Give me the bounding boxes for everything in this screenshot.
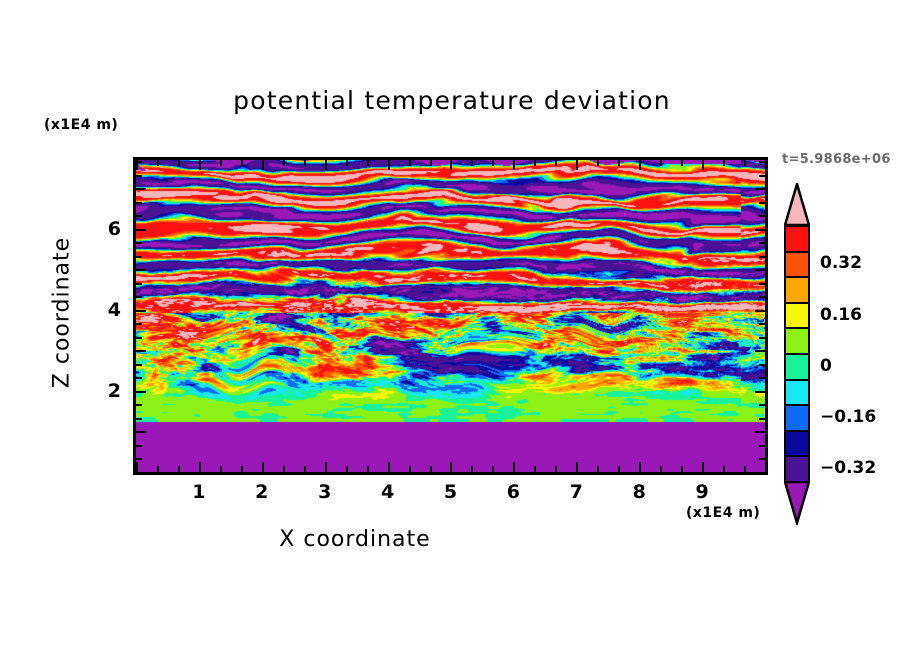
x-tick-major-top [388,160,390,170]
x-tick-minor-top [367,160,369,166]
z-axis-unit-label: (x1E4 m) [44,117,118,133]
y-tick-minor [136,323,142,325]
x-tick-minor [241,466,243,472]
x-tick-minor [220,466,222,472]
figure-canvas: potential temperature deviation (x1E4 m)… [0,0,904,654]
x-tick-major-top [639,160,641,170]
y-tick-label: 6 [81,218,121,240]
colorbar-band [784,251,810,279]
x-tick-major-top [325,160,327,170]
colorbar-tick-label: 0.16 [820,305,862,325]
y-tick-minor-right [759,175,765,177]
colorbar-tick-label: 0.32 [820,253,862,273]
y-tick-minor-right [759,404,765,406]
x-tick-major [576,462,578,472]
timestamp-label: t=5.9868e+06 [782,152,891,167]
x-tick-major-top [702,160,704,170]
x-tick-minor-top [723,160,725,166]
y-tick-minor [136,215,142,217]
x-tick-minor [555,466,557,472]
y-tick-minor [136,161,142,163]
y-axis-label: Z coordinate [50,213,75,413]
x-tick-minor-top [660,160,662,166]
x-tick-minor-top [618,160,620,166]
colorbar-band [784,379,810,407]
y-tick-major-right [755,472,765,474]
colorbar-extend-bottom [784,481,810,525]
x-tick-minor [534,466,536,472]
y-tick-minor [136,364,142,366]
x-tick-minor [681,466,683,472]
x-tick-minor [492,466,494,472]
x-tick-minor [660,466,662,472]
y-tick-major [136,310,146,312]
y-tick-major-right [755,350,765,352]
y-tick-minor-right [759,256,765,258]
x-tick-label: 5 [431,481,471,503]
y-tick-minor-right [759,242,765,244]
y-tick-label: 2 [81,380,121,402]
y-tick-minor-right [759,215,765,217]
x-tick-minor [346,466,348,472]
y-tick-major-right [755,269,765,271]
y-tick-minor [136,418,142,420]
x-tick-major-top [450,160,452,170]
x-tick-major [639,462,641,472]
x-tick-minor [597,466,599,472]
colorbar-band [784,276,810,304]
x-tick-minor-top [157,160,159,166]
y-tick-minor [136,283,142,285]
x-tick-label: 1 [179,481,219,503]
colorbar-tick-label: 0 [820,356,832,376]
x-tick-major [136,462,138,472]
y-tick-minor [136,458,142,460]
colorbar-band [784,455,810,483]
x-tick-major [765,462,767,472]
colorbar-band [784,430,810,458]
x-tick-label: 7 [556,481,596,503]
colorbar-band [784,225,810,253]
colorbar-tick-label: −0.16 [820,407,876,427]
y-tick-minor-right [759,364,765,366]
y-tick-minor-right [759,202,765,204]
x-tick-minor [723,466,725,472]
x-tick-minor [471,466,473,472]
x-tick-label: 6 [493,481,533,503]
y-tick-major-right [755,431,765,433]
colorbar-band [784,353,810,381]
y-tick-minor-right [759,458,765,460]
y-tick-minor-right [759,337,765,339]
x-tick-label: 9 [682,481,722,503]
y-tick-major [136,431,146,433]
x-tick-minor-top [534,160,536,166]
x-tick-minor [744,466,746,472]
y-tick-minor-right [759,418,765,420]
y-tick-minor [136,242,142,244]
x-tick-label: 4 [368,481,408,503]
x-tick-minor-top [471,160,473,166]
y-tick-minor-right [759,323,765,325]
x-tick-minor-top [346,160,348,166]
y-tick-minor [136,296,142,298]
y-tick-major [136,229,146,231]
x-tick-minor-top [597,160,599,166]
y-tick-major [136,350,146,352]
x-tick-minor [304,466,306,472]
colorbar-extend-top-outline [784,183,810,225]
x-tick-minor-top [220,160,222,166]
x-tick-minor [367,466,369,472]
x-tick-major [325,462,327,472]
y-tick-major-right [755,188,765,190]
x-tick-minor-top [430,160,432,166]
x-tick-label: 3 [305,481,345,503]
x-tick-label: 2 [242,481,282,503]
y-tick-minor [136,175,142,177]
x-axis-unit-label: (x1E4 m) [686,505,760,521]
x-tick-minor-top [304,160,306,166]
x-axis-label: X coordinate [0,527,710,552]
y-tick-minor-right [759,377,765,379]
x-tick-major [199,462,201,472]
x-tick-label: 8 [619,481,659,503]
x-tick-minor-top [744,160,746,166]
x-tick-major [388,462,390,472]
x-tick-minor-top [555,160,557,166]
plot-frame [133,157,768,475]
x-tick-major-top [765,160,767,170]
y-tick-minor-right [759,161,765,163]
y-tick-minor [136,377,142,379]
x-tick-minor-top [178,160,180,166]
y-tick-major [136,472,146,474]
y-tick-minor-right [759,283,765,285]
x-tick-major [262,462,264,472]
colorbar-tick-label: −0.32 [820,458,876,478]
y-tick-minor [136,404,142,406]
colorbar-band [784,302,810,330]
y-tick-minor-right [759,445,765,447]
y-tick-minor [136,445,142,447]
x-tick-major [513,462,515,472]
x-tick-major-top [576,160,578,170]
y-tick-label: 4 [81,299,121,321]
x-tick-minor-top [283,160,285,166]
colorbar-band [784,404,810,432]
y-tick-minor-right [759,296,765,298]
y-tick-minor [136,256,142,258]
x-tick-major [702,462,704,472]
y-tick-major [136,188,146,190]
y-tick-major [136,391,146,393]
y-tick-major-right [755,229,765,231]
page-title: potential temperature deviation [0,86,904,115]
x-tick-minor-top [492,160,494,166]
x-tick-minor-top [681,160,683,166]
x-tick-minor [157,466,159,472]
x-tick-major-top [199,160,201,170]
y-tick-minor [136,202,142,204]
x-tick-minor [409,466,411,472]
x-tick-minor [430,466,432,472]
x-tick-minor [283,466,285,472]
colorbar-band [784,327,810,355]
x-tick-minor-top [409,160,411,166]
x-tick-minor [618,466,620,472]
x-tick-major [450,462,452,472]
y-tick-minor [136,337,142,339]
x-tick-minor [178,466,180,472]
y-tick-major-right [755,310,765,312]
x-tick-major-top [513,160,515,170]
colorbar: 0.320.160−0.16−0.32 [784,183,812,523]
x-tick-minor-top [241,160,243,166]
y-tick-major [136,269,146,271]
y-tick-major-right [755,391,765,393]
x-tick-major-top [262,160,264,170]
